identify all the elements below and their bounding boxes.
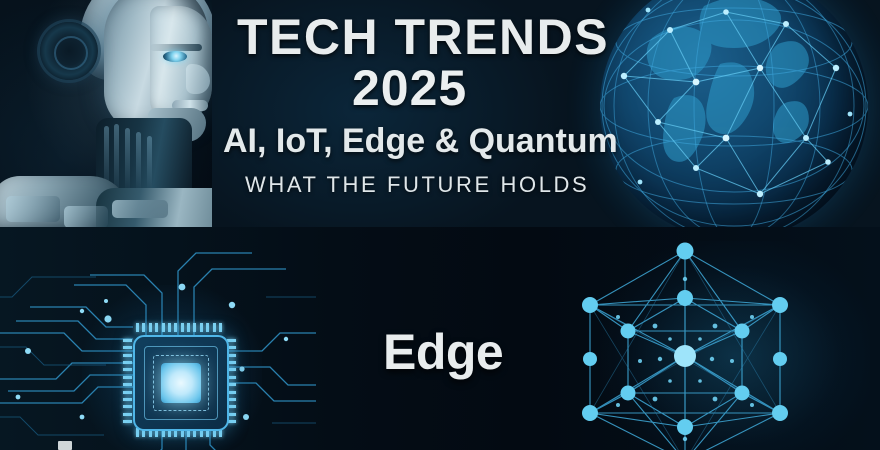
cropped-letter-fragment bbox=[58, 441, 72, 450]
robot-armor-plate bbox=[6, 196, 60, 222]
globe-mesh-svg bbox=[600, 0, 868, 227]
page-year: 2025 bbox=[352, 62, 467, 114]
robot-eye bbox=[163, 51, 187, 62]
page-tagline: WHAT THE FUTURE HOLDS bbox=[245, 172, 589, 198]
robot-cable bbox=[125, 128, 130, 194]
cpu-circuit-board-graphic bbox=[0, 227, 316, 450]
robot-armor-plate bbox=[112, 200, 168, 218]
chip-core bbox=[161, 363, 201, 403]
ai-robot-portrait bbox=[0, 0, 212, 227]
robot-cable bbox=[136, 132, 141, 194]
network-globe-graphic bbox=[600, 0, 868, 227]
robot-armor-plate bbox=[64, 206, 108, 227]
robot-cable bbox=[147, 136, 152, 194]
chip-pins-left bbox=[123, 339, 132, 423]
robot-ear-disc bbox=[40, 22, 98, 80]
chip-pins-top bbox=[136, 323, 222, 332]
lattice-mesh-svg bbox=[560, 227, 880, 450]
page-title: TECH TRENDS bbox=[237, 10, 583, 64]
quantum-node-lattice-graphic bbox=[560, 227, 880, 450]
cpu-chip-icon bbox=[133, 335, 229, 431]
tech-trends-poster: TECH TRENDS 2025 AI, IoT, Edge & Quantum… bbox=[0, 0, 880, 450]
robot-brow bbox=[150, 44, 202, 51]
top-banner-panel: TECH TRENDS 2025 AI, IoT, Edge & Quantum… bbox=[0, 0, 880, 227]
edge-label: Edge bbox=[383, 325, 503, 379]
page-subtitle: AI, IoT, Edge & Quantum bbox=[223, 120, 618, 162]
